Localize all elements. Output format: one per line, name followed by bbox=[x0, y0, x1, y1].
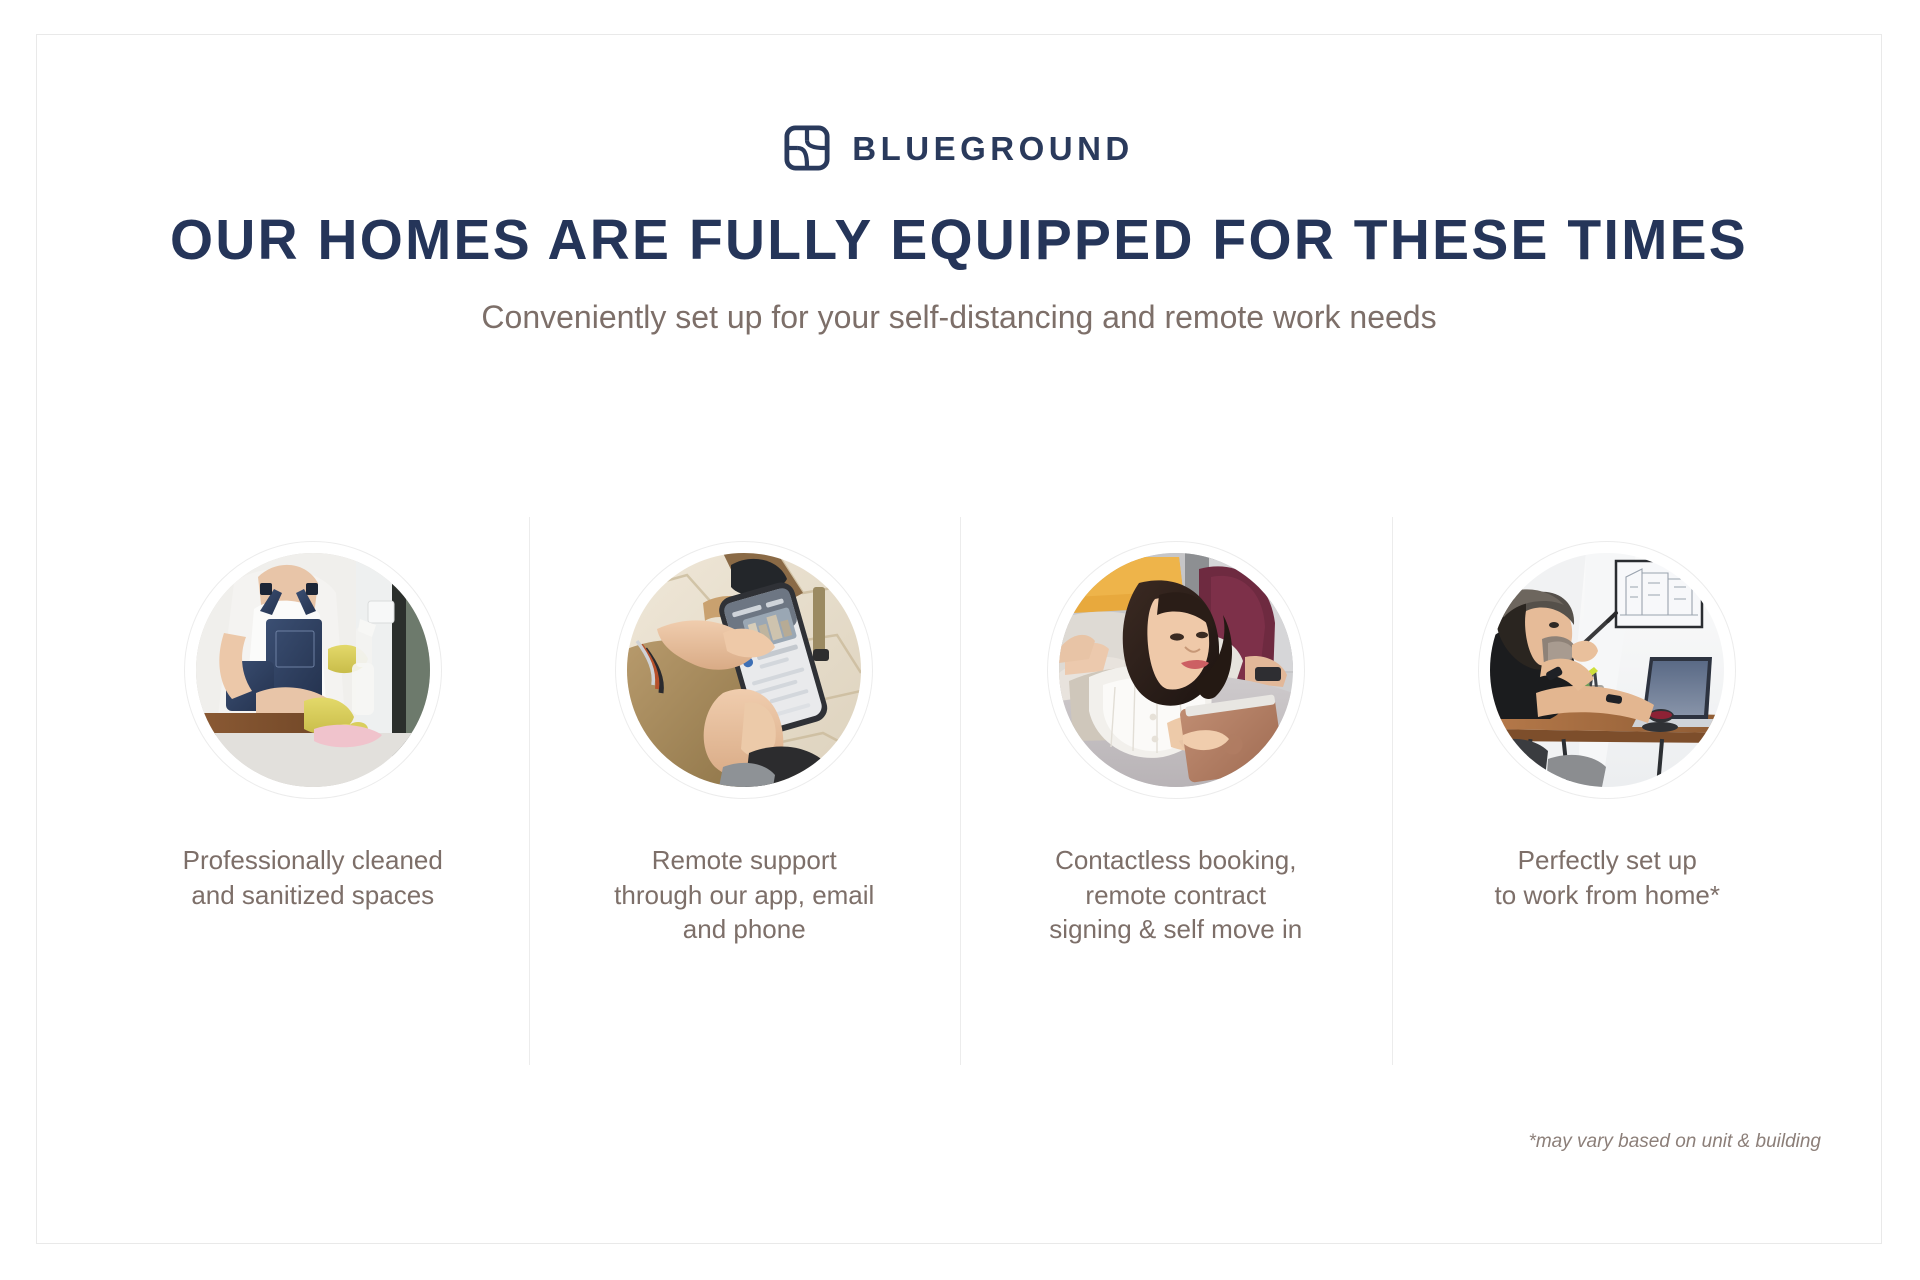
card-caption: Perfectly set up to work from home* bbox=[1495, 843, 1720, 912]
feature-card-work-from-home: Perfectly set up to work from home* bbox=[1392, 517, 1824, 1065]
page-title: OUR HOMES ARE FULLY EQUIPPED FOR THESE T… bbox=[65, 211, 1854, 271]
brand-logo: BLUEGROUND bbox=[37, 125, 1881, 171]
card-caption: Remote support through our app, email an… bbox=[614, 843, 874, 947]
blueground-square-mark-icon bbox=[784, 125, 830, 171]
feature-cards: Professionally cleaned and sanitized spa… bbox=[97, 517, 1823, 1065]
photo-ring bbox=[184, 541, 442, 799]
brand-wordmark: BLUEGROUND bbox=[852, 132, 1134, 165]
feature-card-contactless-booking: Contactless booking, remote contract sig… bbox=[960, 517, 1392, 1065]
card-caption: Professionally cleaned and sanitized spa… bbox=[183, 843, 443, 912]
phone-support-photo bbox=[627, 553, 861, 787]
cleaning-photo bbox=[196, 553, 430, 787]
tablet-booking-photo bbox=[1059, 553, 1293, 787]
photo-ring bbox=[1478, 541, 1736, 799]
footnote: *may vary based on unit & building bbox=[1528, 1131, 1821, 1153]
card-caption: Contactless booking, remote contract sig… bbox=[1049, 843, 1302, 947]
poster-frame: BLUEGROUND OUR HOMES ARE FULLY EQUIPPED … bbox=[36, 34, 1882, 1244]
photo-ring bbox=[615, 541, 873, 799]
photo-ring bbox=[1047, 541, 1305, 799]
work-from-home-photo bbox=[1490, 553, 1724, 787]
feature-card-remote-support: Remote support through our app, email an… bbox=[529, 517, 961, 1065]
feature-card-cleaning: Professionally cleaned and sanitized spa… bbox=[97, 517, 529, 1065]
page-subtitle: Conveniently set up for your self-distan… bbox=[37, 297, 1881, 339]
